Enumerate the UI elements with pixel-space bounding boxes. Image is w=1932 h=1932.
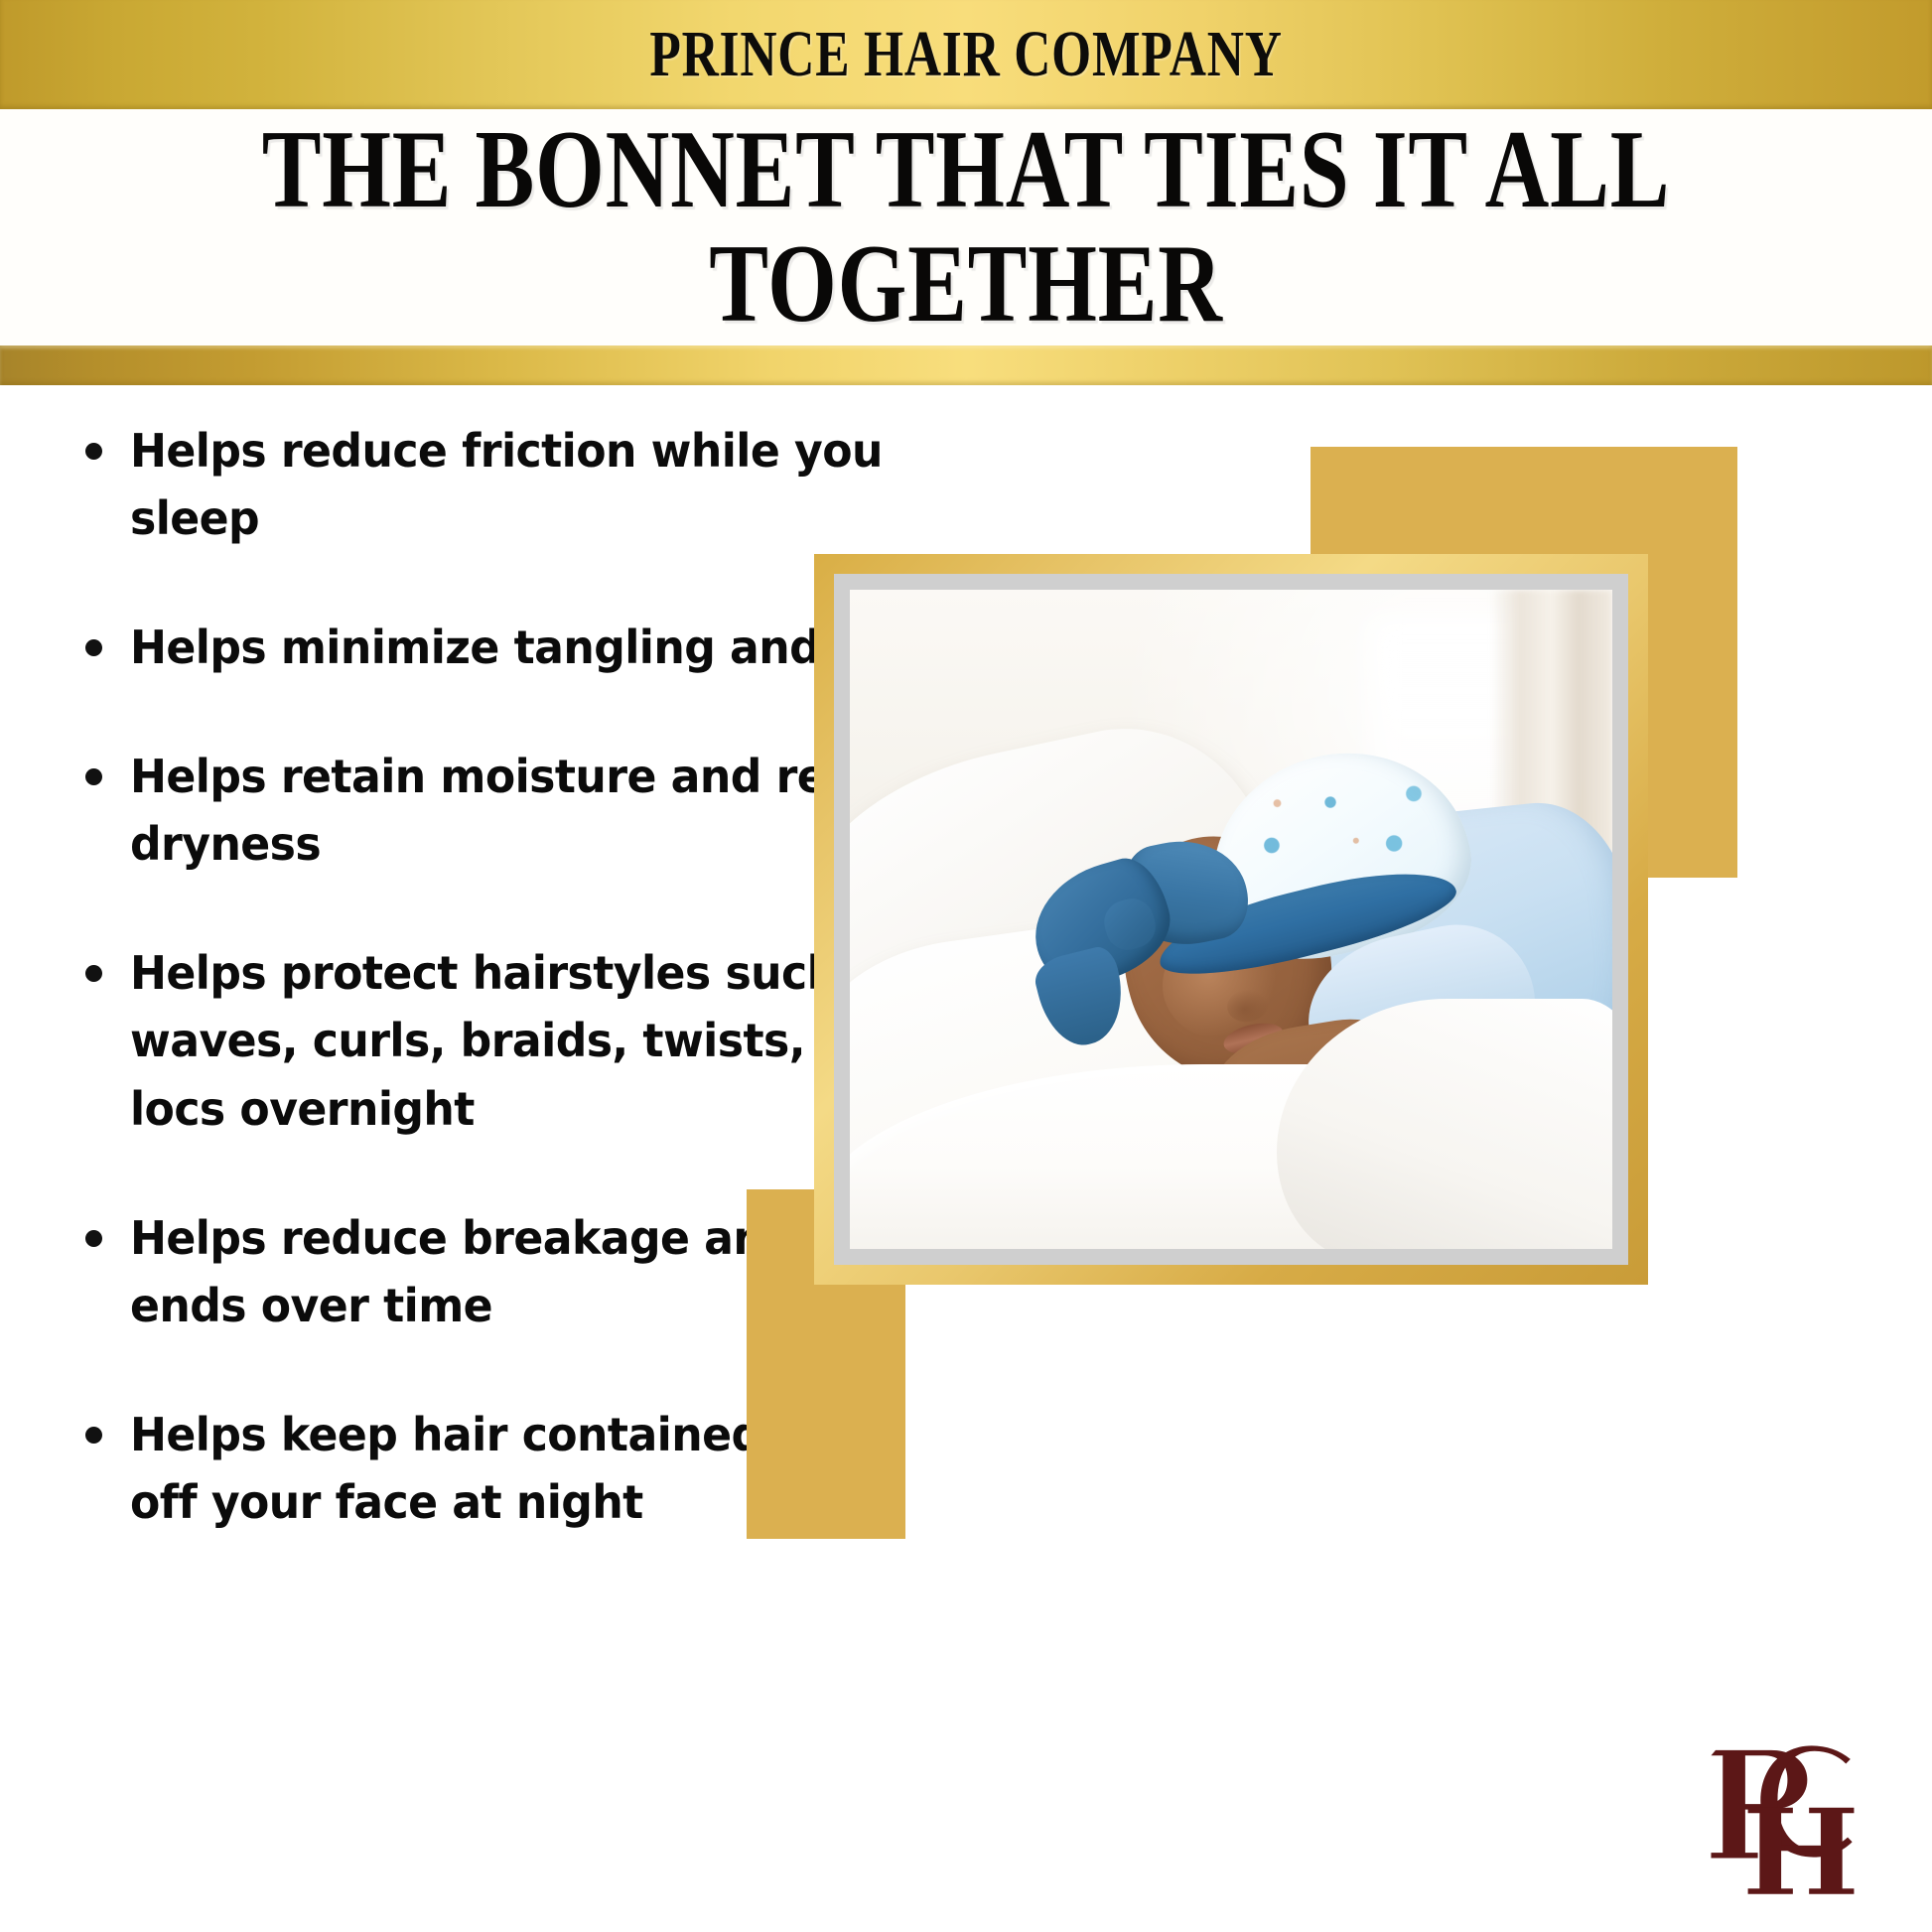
photo-mat (834, 574, 1628, 1265)
bullet-dot-icon (85, 965, 102, 982)
phc-monogram-logo (1692, 1739, 1872, 1910)
sleeping-woman-photo (850, 590, 1612, 1249)
page-title: THE BONNET THAT TIES IT ALL TOGETHER (194, 113, 1739, 343)
bullet-dot-icon (85, 639, 102, 656)
bullet-dot-icon (85, 443, 102, 460)
main-content: Helps reduce friction while you sleep He… (0, 385, 1932, 1932)
bullet-dot-icon (85, 768, 102, 785)
brand-name: PRINCE HAIR COMPANY (212, 0, 1720, 109)
bullet-dot-icon (85, 1230, 102, 1247)
brand-bar: PRINCE HAIR COMPANY (0, 0, 1932, 109)
product-photo-composition (735, 385, 1932, 1932)
title-band: THE BONNET THAT TIES IT ALL TOGETHER (0, 109, 1932, 345)
bullet-dot-icon (85, 1427, 102, 1444)
photo-frame (814, 554, 1648, 1285)
gold-divider-bar (0, 345, 1932, 385)
